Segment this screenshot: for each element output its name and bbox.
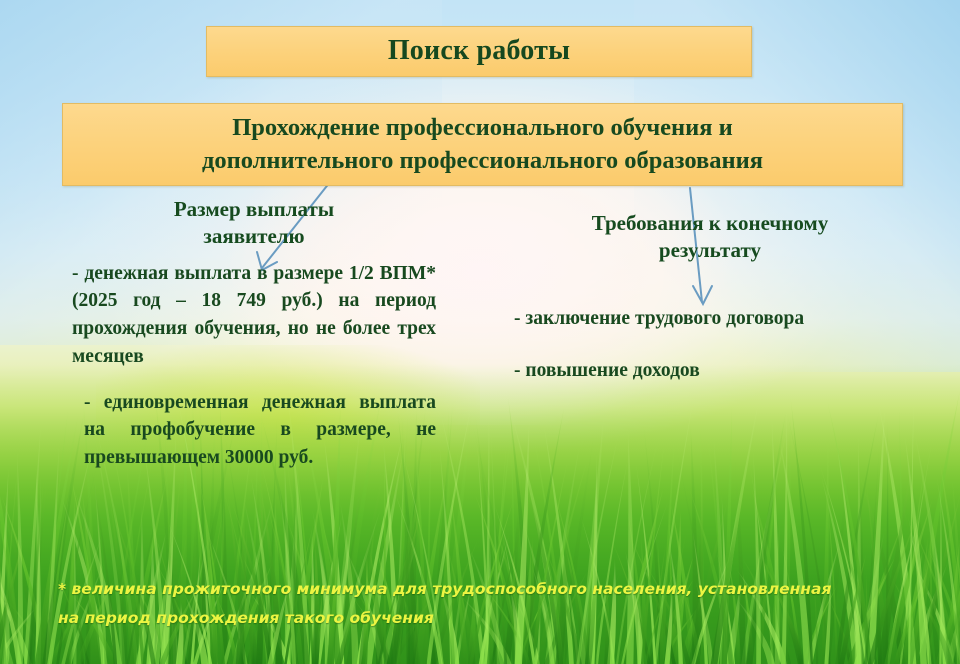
left-paragraph-1: - денежная выплата в размере 1/2 ВПМ* (2… — [72, 260, 436, 371]
footnote: * величина прожиточного минимума для тру… — [58, 575, 938, 632]
right-bullet-1: - заключение трудового договора — [514, 308, 920, 330]
right-heading-line-2: результату — [500, 237, 920, 264]
title-box: Поиск работы — [206, 26, 752, 77]
slide-canvas: Поиск работы Прохождение профессионально… — [0, 0, 960, 664]
subtitle-line-1: Прохождение профессионального обучения и — [202, 112, 763, 144]
left-column: Размер выплаты заявителю - денежная выпл… — [72, 196, 436, 472]
right-column-heading: Требования к конечному результату — [500, 210, 920, 264]
left-heading-line-2: заявителю — [72, 223, 436, 250]
right-heading-line-1: Требования к конечному — [500, 210, 920, 237]
subtitle-line-2: дополнительного профессионального образо… — [202, 145, 763, 177]
subtitle-text: Прохождение профессионального обучения и… — [202, 112, 763, 177]
left-heading-line-1: Размер выплаты — [72, 196, 436, 223]
left-paragraph-2: - единовременная денежная выплата на про… — [84, 389, 436, 472]
right-column: Требования к конечному результату - закл… — [500, 210, 920, 412]
footnote-line-1: * величина прожиточного минимума для тру… — [58, 575, 938, 604]
footnote-line-2: на период прохождения такого обучения — [58, 604, 938, 633]
left-column-heading: Размер выплаты заявителю — [72, 196, 436, 250]
subtitle-box: Прохождение профессионального обучения и… — [62, 103, 903, 186]
page-title: Поиск работы — [388, 36, 570, 67]
right-bullet-2: - повышение доходов — [514, 360, 920, 382]
